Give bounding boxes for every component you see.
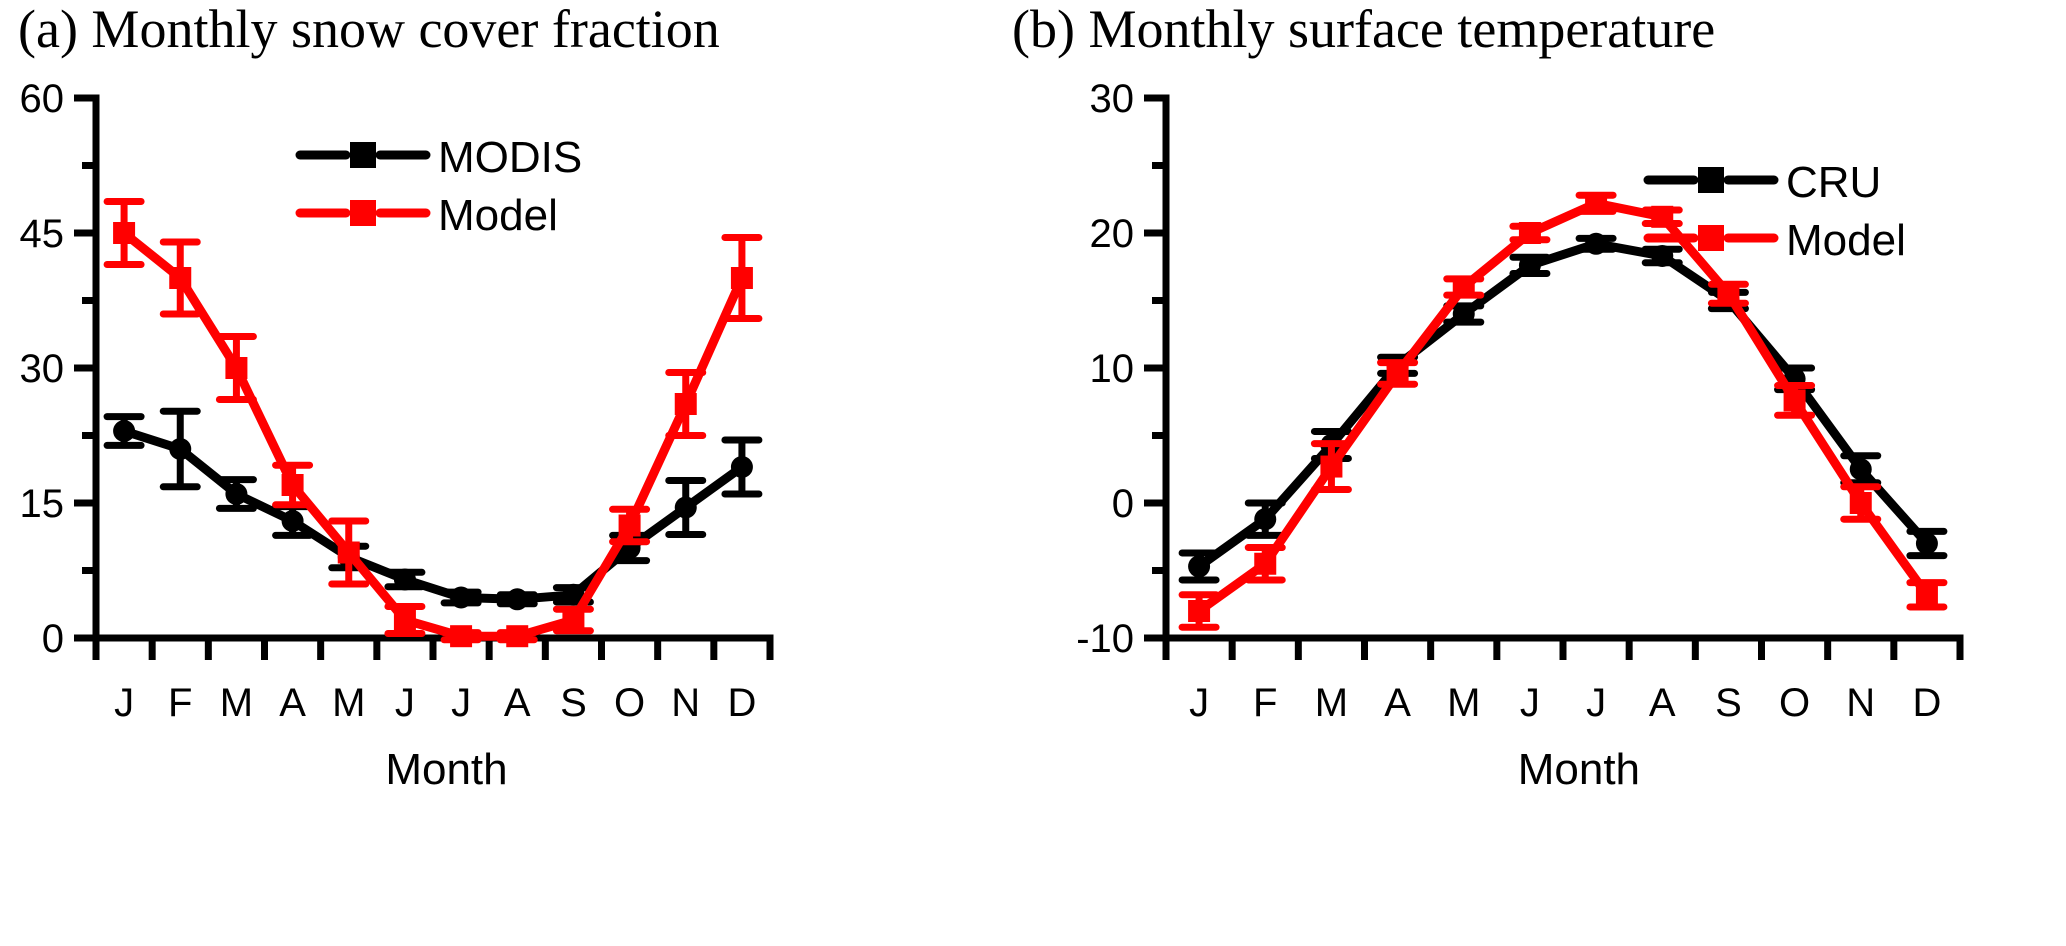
legend-marker xyxy=(1698,167,1724,193)
y-tick-label: 30 xyxy=(1090,77,1135,121)
series-line xyxy=(124,431,742,599)
y-tick-label: 20 xyxy=(1090,212,1135,256)
data-point-marker xyxy=(169,267,191,289)
panel-a-plot: 015304560JFMAMJJASONDMonthMODISModel xyxy=(0,70,790,870)
data-point-marker xyxy=(731,456,753,478)
data-point-marker xyxy=(1519,222,1541,244)
data-point-marker xyxy=(1585,192,1607,214)
x-axis-title: Month xyxy=(1518,745,1640,794)
data-point-marker xyxy=(282,510,304,532)
data-point-marker xyxy=(1651,245,1673,267)
x-tick-label: S xyxy=(560,681,587,725)
y-tick-label: 15 xyxy=(20,482,65,526)
data-point-marker xyxy=(1519,254,1541,276)
x-axis-title: Month xyxy=(385,745,507,794)
data-point-marker xyxy=(1387,362,1409,384)
x-tick-label: F xyxy=(168,681,192,725)
data-point-marker xyxy=(225,357,247,379)
data-point-marker xyxy=(1850,492,1872,514)
data-point-marker xyxy=(1717,283,1739,305)
data-point-marker xyxy=(506,625,528,647)
data-point-marker xyxy=(619,515,641,537)
x-tick-label: F xyxy=(1253,681,1277,725)
data-point-marker xyxy=(1651,206,1673,228)
legend-label: Model xyxy=(438,191,558,240)
data-point-marker xyxy=(562,609,584,631)
x-tick-label: O xyxy=(614,681,645,725)
x-tick-label: O xyxy=(1779,681,1810,725)
x-tick-label: M xyxy=(220,681,253,725)
data-point-marker xyxy=(675,497,697,519)
legend-label: Model xyxy=(1786,216,1906,265)
data-point-marker xyxy=(338,542,360,564)
legend-label: MODIS xyxy=(438,133,582,182)
data-point-marker xyxy=(506,588,528,610)
panel-a-title: (a) Monthly snow cover fraction xyxy=(18,0,1048,60)
legend-marker xyxy=(350,142,376,168)
data-point-marker xyxy=(1254,508,1276,530)
panel-b-plot: -100102030JFMAMJJASONDMonthCRUModel xyxy=(1050,70,1990,870)
legend-item: Model xyxy=(1648,216,1906,265)
legend-item: MODIS xyxy=(300,133,582,182)
x-tick-label: D xyxy=(727,681,756,725)
series-line xyxy=(1199,244,1927,567)
data-point-marker xyxy=(1254,553,1276,575)
data-point-marker xyxy=(394,569,416,591)
y-tick-label: -10 xyxy=(1076,617,1134,661)
y-tick-label: 30 xyxy=(20,347,65,391)
data-point-marker xyxy=(169,438,191,460)
x-tick-label: M xyxy=(1315,681,1348,725)
legend-marker xyxy=(350,200,376,226)
data-point-marker xyxy=(113,222,135,244)
series-line xyxy=(124,233,742,636)
y-tick-label: 0 xyxy=(42,617,64,661)
data-point-marker xyxy=(394,609,416,631)
x-tick-label: M xyxy=(1447,681,1480,725)
x-tick-label: A xyxy=(279,681,306,725)
legend-label: CRU xyxy=(1786,158,1881,207)
data-point-marker xyxy=(731,267,753,289)
panel-snow-cover: (a) Monthly snow cover fraction 01530456… xyxy=(0,0,1030,946)
data-point-marker xyxy=(1585,233,1607,255)
y-tick-label: 60 xyxy=(20,77,65,121)
y-tick-label: 10 xyxy=(1090,347,1135,391)
x-tick-label: N xyxy=(671,681,700,725)
x-tick-label: J xyxy=(451,681,471,725)
data-point-marker xyxy=(450,625,472,647)
x-tick-label: A xyxy=(1649,681,1676,725)
data-point-marker xyxy=(225,483,247,505)
series-modis xyxy=(107,411,759,610)
x-tick-label: S xyxy=(1715,681,1742,725)
data-point-marker xyxy=(1320,456,1342,478)
series-model xyxy=(107,202,759,648)
data-point-marker xyxy=(1188,555,1210,577)
data-point-marker xyxy=(1784,389,1806,411)
data-point-marker xyxy=(1188,600,1210,622)
x-tick-label: N xyxy=(1846,681,1875,725)
data-point-marker xyxy=(282,474,304,496)
data-point-marker xyxy=(1453,303,1475,325)
series-cru xyxy=(1182,233,1944,580)
x-tick-label: A xyxy=(504,681,531,725)
legend: MODISModel xyxy=(300,133,582,240)
legend-item: Model xyxy=(300,191,558,240)
x-tick-label: J xyxy=(114,681,134,725)
data-point-marker xyxy=(1916,584,1938,606)
data-point-marker xyxy=(1850,458,1872,480)
x-tick-label: J xyxy=(395,681,415,725)
x-tick-label: D xyxy=(1912,681,1941,725)
legend-marker xyxy=(1698,225,1724,251)
x-tick-label: J xyxy=(1520,681,1540,725)
data-point-marker xyxy=(1453,276,1475,298)
data-point-marker xyxy=(113,420,135,442)
panel-b-title: (b) Monthly surface temperature xyxy=(1012,0,2048,60)
panel-surface-temperature: (b) Monthly surface temperature -1001020… xyxy=(1030,0,2066,946)
x-tick-label: J xyxy=(1189,681,1209,725)
y-tick-label: 0 xyxy=(1112,482,1134,526)
figure-canvas: (a) Monthly snow cover fraction 01530456… xyxy=(0,0,2066,946)
legend-item: CRU xyxy=(1648,158,1881,207)
data-point-marker xyxy=(450,587,472,609)
x-tick-label: M xyxy=(332,681,365,725)
data-point-marker xyxy=(675,393,697,415)
data-point-marker xyxy=(1916,533,1938,555)
y-tick-label: 45 xyxy=(20,212,65,256)
x-tick-label: A xyxy=(1384,681,1411,725)
x-tick-label: J xyxy=(1586,681,1606,725)
